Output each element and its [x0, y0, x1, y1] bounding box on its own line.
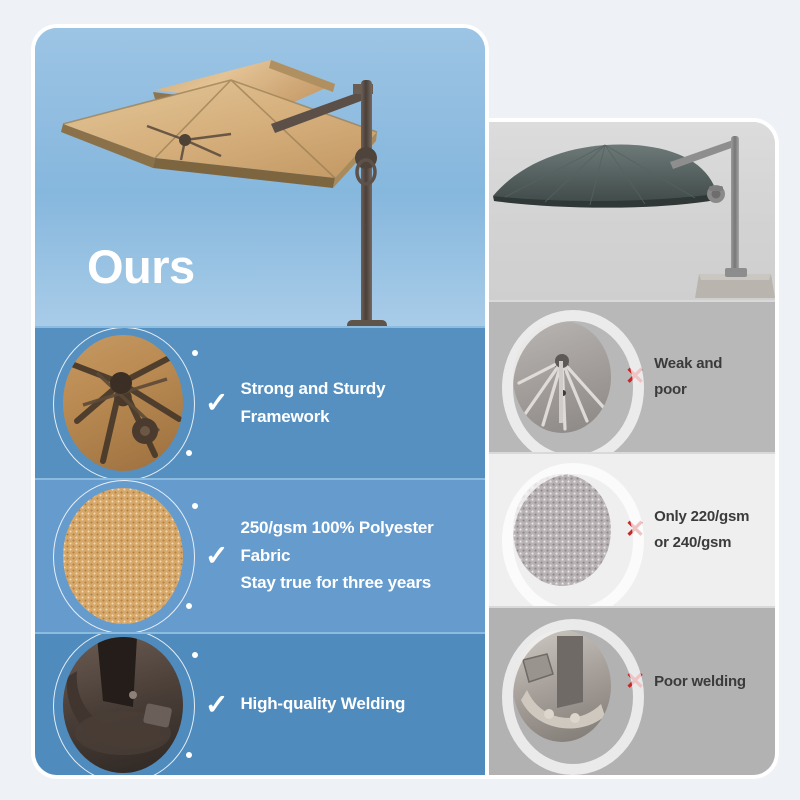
ring-dot — [186, 752, 192, 758]
fabric-swatch-others-icon — [513, 474, 611, 586]
others-welding-text: ✕ Poor welding — [625, 670, 746, 694]
welding-joint-ours-icon — [63, 637, 183, 773]
others-fabric-text: ✕ Only 220/gsm or 240/gsm — [625, 509, 749, 552]
others-feature-row-fabric: ✕ Only 220/gsm or 240/gsm — [485, 454, 775, 606]
feature-line: poor — [654, 382, 722, 399]
cross-icon: ✕ — [625, 518, 645, 542]
check-icon: ✓ — [205, 691, 228, 719]
ours-fabric-thumb-wrap — [63, 488, 183, 624]
comparison-infographic: Others — [0, 0, 800, 800]
feature-line: Stay true for three years — [240, 574, 433, 593]
others-umbrella-illustration — [485, 122, 775, 300]
feature-line: Weak and — [654, 356, 722, 373]
ours-card: Ours — [35, 28, 485, 775]
cross-icon: ✕ — [625, 670, 645, 694]
feature-line: Fabric — [240, 547, 433, 566]
others-feature-row-framework: ✕ Weak and poor — [485, 302, 775, 452]
fabric-swatch-ours-icon — [63, 488, 183, 624]
umbrella-frame-closeup-ours-icon — [63, 335, 183, 471]
ours-feature-row-framework: ✓ Strong and Sturdy Framework — [35, 328, 485, 478]
ours-welding-thumb-wrap — [63, 637, 183, 773]
feature-line: Only 220/gsm — [654, 509, 749, 526]
others-hero-band: Others — [485, 122, 775, 300]
frame-spokes — [513, 321, 611, 433]
others-welding-thumb-wrap — [513, 630, 611, 742]
feature-line: 250/gsm 100% Polyester — [240, 519, 433, 538]
ours-title: Ours — [87, 243, 195, 290]
others-feature-row-welding: ✕ Poor welding — [485, 608, 775, 775]
ours-framework-text: ✓ Strong and Sturdy Framework — [205, 380, 385, 426]
umbrella-frame-closeup-others-icon — [513, 321, 611, 433]
ring-dot — [186, 603, 192, 609]
ours-framework-thumb-wrap — [63, 335, 183, 471]
check-icon: ✓ — [205, 389, 228, 417]
ring-dot — [192, 503, 198, 509]
feature-line: or 240/gsm — [654, 535, 749, 552]
cross-icon: ✕ — [625, 365, 645, 389]
feature-line: Framework — [240, 408, 385, 427]
frame-spokes — [63, 335, 183, 471]
others-framework-thumb-wrap — [513, 321, 611, 433]
feature-line: Poor welding — [654, 674, 746, 691]
ours-welding-text: ✓ High-quality Welding — [205, 691, 405, 719]
others-framework-text: ✕ Weak and poor — [625, 356, 722, 399]
welding-joint-others-icon — [513, 630, 611, 742]
ours-feature-row-fabric: ✓ 250/gsm 100% Polyester Fabric Stay tru… — [35, 480, 485, 632]
weld-detail — [513, 630, 611, 742]
ring-dot — [186, 450, 192, 456]
check-icon: ✓ — [205, 542, 228, 570]
ours-fabric-text: ✓ 250/gsm 100% Polyester Fabric Stay tru… — [205, 519, 434, 593]
others-fabric-thumb-wrap — [513, 474, 611, 586]
feature-line: High-quality Welding — [240, 695, 405, 714]
feature-line: Strong and Sturdy — [240, 380, 385, 399]
ring-dot — [192, 652, 198, 658]
others-card: Others — [485, 122, 775, 775]
ours-hero-band: Ours — [35, 28, 485, 326]
weld-detail — [63, 637, 183, 773]
ring-dot — [192, 350, 198, 356]
ours-feature-row-welding: ✓ High-quality Welding — [35, 634, 485, 775]
